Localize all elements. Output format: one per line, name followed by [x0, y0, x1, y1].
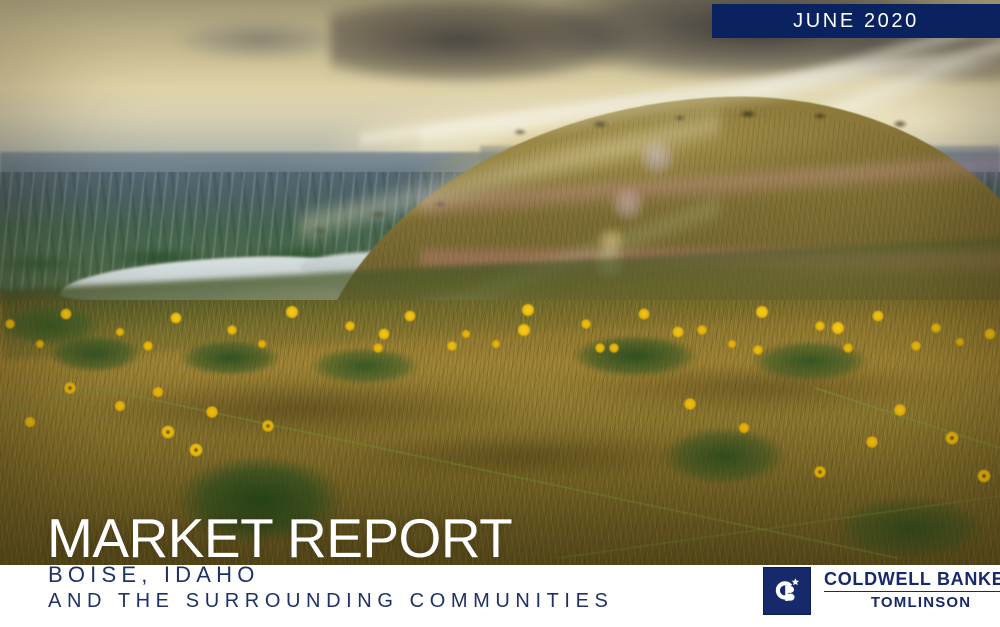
subtitle-location: BOISE, IDAHO — [48, 564, 260, 586]
coldwell-banker-cb-monogram-icon — [763, 567, 811, 615]
page-title: MARKET REPORT — [47, 511, 512, 566]
subtitle-communities: AND THE SURROUNDING COMMUNITIES — [48, 591, 613, 611]
brand-affiliate-name: TOMLINSON — [871, 594, 972, 613]
date-badge-label: JUNE 2020 — [793, 11, 919, 31]
brand-name: COLDWELL BANKER — [824, 569, 1000, 592]
date-badge: JUNE 2020 — [712, 4, 1000, 38]
brand-logo-wordmark: COLDWELL BANKER TOMLINSON — [824, 569, 1000, 613]
cover-photo — [0, 0, 1000, 565]
brand-logo: COLDWELL BANKER TOMLINSON — [763, 567, 1000, 615]
vignette — [0, 0, 1000, 565]
market-report-cover-page: JUNE 2020 MARKET REPORT BOISE, IDAHO AND… — [0, 0, 1000, 627]
